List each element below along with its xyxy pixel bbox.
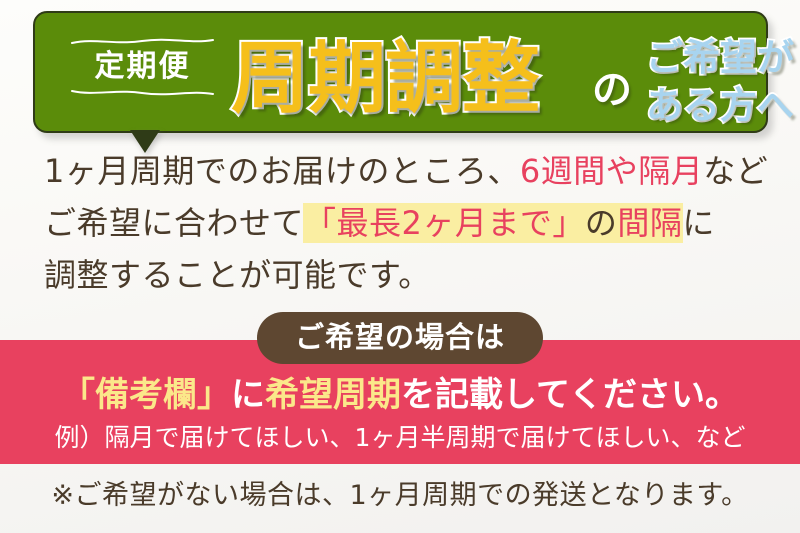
body-paragraph: 1ヶ月周期でのお届けのところ、6週間や隔月など ご希望に合わせて「最長2ヶ月まで… [0,150,800,306]
body-line-2-part-c: の [585,204,618,242]
wave-divider-top-icon [70,37,215,46]
subscription-badge-label: 定期便 [70,46,215,88]
header-title-main: 周期調整 [231,31,539,127]
header-title-particle: の [592,66,632,114]
speech-bubble-tail-icon [131,131,159,152]
subscription-badge: 定期便 [70,37,215,97]
header-bubble: 定期便 周期調整 の ご希望が ある方へ [33,11,768,133]
body-line-2-highlight: 「最長2ヶ月まで」 [304,204,585,242]
body-line-2-part-a: ご希望に合わせて [44,204,304,242]
body-line-1: 1ヶ月周期でのお届けのところ、6週間や隔月など [0,150,800,193]
header-title-right-line1: ご希望が [646,34,800,82]
promo-banner: 定期便 周期調整 の ご希望が ある方へ 1ヶ月周期でのお届けのところ、6週間や… [0,0,800,533]
body-line-1-part-a: 1ヶ月周期でのお届けのところ、 [44,152,520,190]
wave-divider-bottom-icon [70,88,215,97]
instruction-main-text: 「備考欄」に希望周期を記載してください。 [0,373,800,417]
body-line-2: ご希望に合わせて「最長2ヶ月まで」の間隔に [0,202,800,245]
body-line-1-part-c: など [703,152,768,190]
body-line-1-accent: 6週間や隔月 [520,152,703,190]
header-title-right-line2: ある方へ [646,82,800,130]
header-title-right: ご希望が ある方へ [646,34,800,130]
body-line-2-accent: 間隔 [617,204,682,242]
body-line-2-part-e: に [682,204,715,242]
instruction-part-d: を記載してください。 [401,375,739,415]
instruction-cycle-term: 希望周期 [265,375,401,415]
instruction-field-name: 「備考欄」 [61,375,231,415]
instruction-example-text: 例）隔月で届けてほしい、1ヶ月半周期で届けてほしい、など [0,422,800,454]
request-pill-label: ご希望の場合は [257,312,543,364]
instruction-part-b: に [231,375,265,415]
footer-note: ※ご希望がない場合は、1ヶ月周期での発送となります。 [0,478,800,514]
body-line-3: 調整することが可能です。 [0,254,800,297]
